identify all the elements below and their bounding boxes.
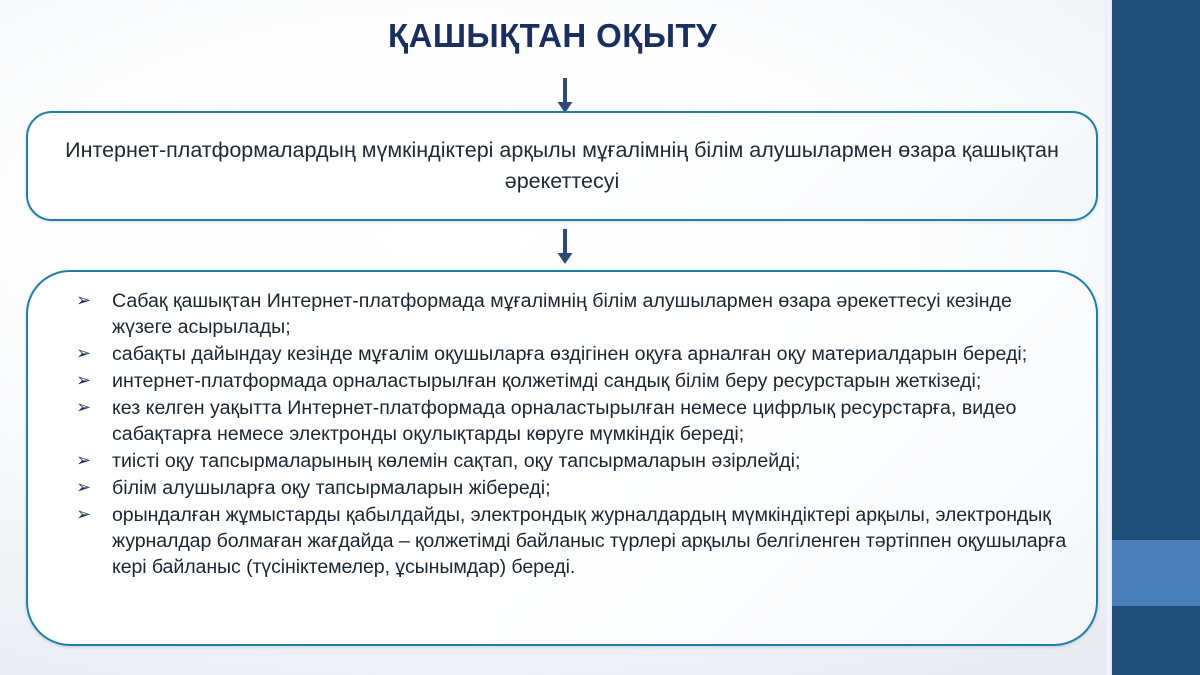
definition-box: Интернет-платформалардың мүмкіндіктері а…	[26, 111, 1098, 221]
bullet-arrow-icon: ➢	[76, 396, 91, 421]
down-arrow-icon-1	[552, 78, 578, 114]
list-item-text: тиісті оқу тапсырмаларының көлемін сақта…	[112, 450, 800, 472]
list-item: ➢ Сабақ қашықтан Интернет-платформада мұ…	[50, 288, 1070, 340]
bullet-arrow-icon: ➢	[76, 342, 91, 367]
sidebar-edge-gradient	[1105, 0, 1112, 675]
list-item: ➢ сабақты дайындау кезінде мұғалім оқушы…	[50, 341, 1070, 367]
features-list-box: ➢ Сабақ қашықтан Интернет-платформада мұ…	[26, 270, 1098, 646]
features-list: ➢ Сабақ қашықтан Интернет-платформада мұ…	[50, 288, 1070, 581]
list-item-text: білім алушыларға оқу тапсырмаларын жібер…	[112, 477, 551, 499]
bullet-arrow-icon: ➢	[76, 476, 91, 501]
bullet-arrow-icon: ➢	[76, 289, 91, 314]
list-item-text: кез келген уақытта Интернет-платформада …	[112, 397, 1016, 445]
list-item-text: Сабақ қашықтан Интернет-платформада мұға…	[112, 290, 1012, 338]
list-item: ➢ тиісті оқу тапсырмаларының көлемін сақ…	[50, 448, 1070, 474]
bullet-arrow-icon: ➢	[76, 503, 91, 528]
list-item-text: интернет-платформада орналастырылған қол…	[112, 370, 981, 392]
bullet-arrow-icon: ➢	[76, 449, 91, 474]
slide-canvas: ҚАШЫҚТАН ОҚЫТУ Интернет-платформалардың …	[0, 0, 1200, 675]
bullet-arrow-icon: ➢	[76, 369, 91, 394]
list-item: ➢ білім алушыларға оқу тапсырмаларын жіб…	[50, 475, 1070, 501]
down-arrow-icon-2	[552, 229, 578, 265]
sidebar-accent-band	[1112, 540, 1200, 606]
list-item: ➢ интернет-платформада орналастырылған қ…	[50, 368, 1070, 394]
page-title: ҚАШЫҚТАН ОҚЫТУ	[0, 16, 1105, 56]
list-item-text: сабақты дайындау кезінде мұғалім оқушыла…	[112, 343, 1027, 365]
definition-box-text: Интернет-платформалардың мүмкіндіктері а…	[54, 135, 1070, 196]
list-item: ➢ кез келген уақытта Интернет-платформад…	[50, 395, 1070, 447]
list-item-text: орындалған жұмыстарды қабылдайды, электр…	[112, 504, 1066, 578]
list-item: ➢ орындалған жұмыстарды қабылдайды, элек…	[50, 502, 1070, 580]
